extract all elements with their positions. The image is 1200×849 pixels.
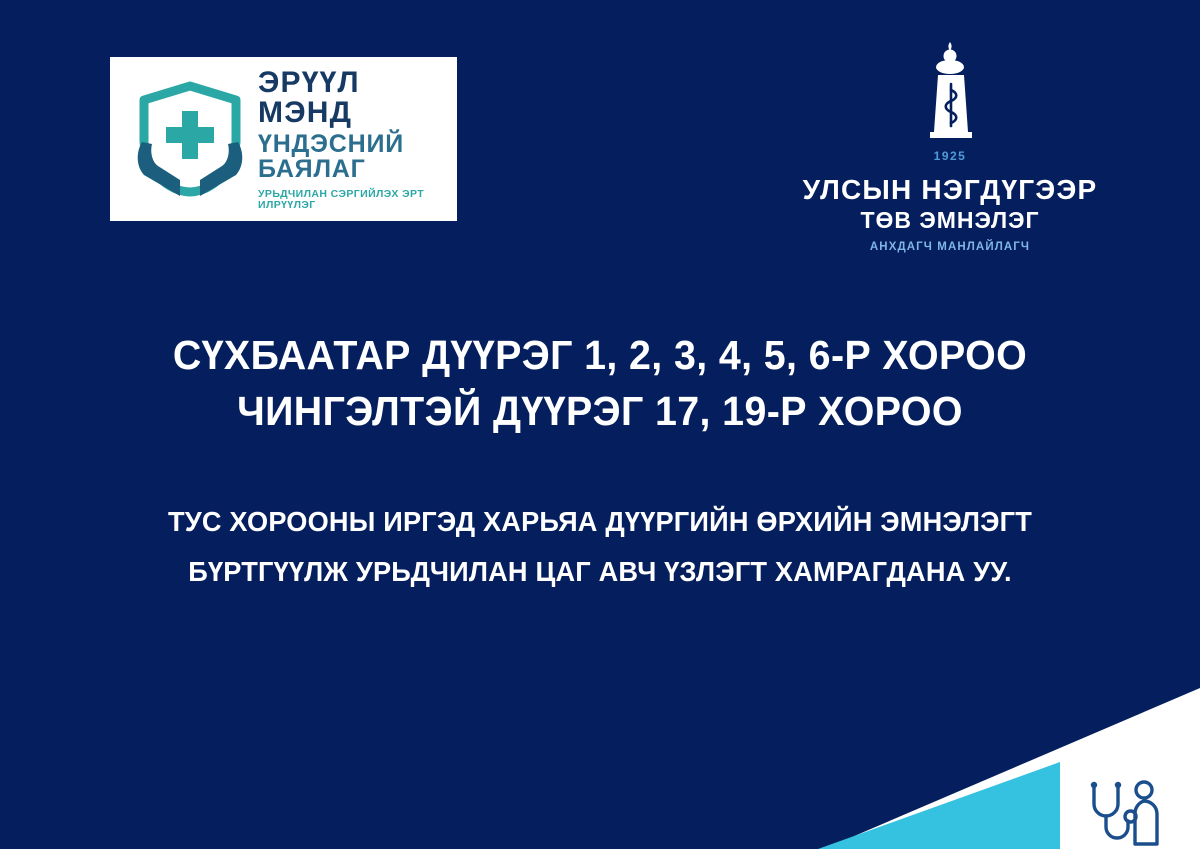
announcement-block: ТУС ХОРООНЫ ИРГЭД ХАРЬЯА ДҮҮРГИЙН ӨРХИЙН… bbox=[0, 497, 1200, 597]
hospital-subtitle: АНХДАГЧ МАНЛАЙЛАГЧ bbox=[870, 241, 1030, 253]
poster-canvas: ЭРҮҮЛ МЭНД ҮНДЭСНИЙ БАЯЛАГ УРЬДЧИЛАН СЭР… bbox=[0, 0, 1200, 849]
hand-left bbox=[138, 142, 180, 196]
hospital-name-line2: ТӨВ ЭМНЭЛЭГ bbox=[860, 208, 1039, 234]
shield-cross-hands-logo-icon bbox=[132, 80, 248, 198]
health-logo-wordmark: ЭРҮҮЛ МЭНД ҮНДЭСНИЙ БАЯЛАГ УРЬДЧИЛАН СЭР… bbox=[258, 68, 447, 210]
hand-right bbox=[200, 142, 242, 196]
pillar-asclepius-emblem-icon bbox=[914, 40, 986, 148]
emblem-base bbox=[930, 132, 972, 138]
headline-block: СҮХБААТАР ДҮҮРЭГ 1, 2, 3, 4, 5, 6-Р ХОРО… bbox=[0, 327, 1200, 439]
cyan-band-taper bbox=[1020, 762, 1060, 800]
hospital-name-line1: УЛСЫН НЭГДҮГЭЭР bbox=[803, 174, 1098, 205]
medical-cross bbox=[166, 111, 214, 159]
hospital-founding-year: 1925 bbox=[934, 149, 967, 163]
health-logo-tagline: УРЬДЧИЛАН СЭРГИЙЛЭХ ЭРТ ИЛРҮҮЛЭГ bbox=[258, 189, 447, 210]
health-ministry-logo-card: ЭРҮҮЛ МЭНД ҮНДЭСНИЙ БАЯЛАГ УРЬДЧИЛАН СЭР… bbox=[110, 57, 457, 221]
hospital-logo: 1925 УЛСЫН НЭГДҮГЭЭР ТӨВ ЭМНЭЛЭГ АНХДАГЧ… bbox=[770, 40, 1130, 253]
health-logo-line1: ЭРҮҮЛ МЭНД bbox=[258, 68, 447, 128]
cyan-band bbox=[818, 762, 1060, 849]
stethoscope-doctor-icon bbox=[1085, 780, 1167, 846]
health-logo-line2: ҮНДЭСНИЙ БАЯЛАГ bbox=[258, 132, 447, 182]
announcement-line1: ТУС ХОРООНЫ ИРГЭД ХАРЬЯА ДҮҮРГИЙН ӨРХИЙН… bbox=[18, 497, 1182, 547]
headline-line1: СҮХБААТАР ДҮҮРЭГ 1, 2, 3, 4, 5, 6-Р ХОРО… bbox=[24, 327, 1176, 383]
headline-line2: ЧИНГЭЛТЭЙ ДҮҮРЭГ 17, 19-Р ХОРОО bbox=[24, 383, 1176, 439]
announcement-line2: БҮРТГҮҮЛЖ УРЬДЧИЛАН ЦАГ АВЧ ҮЗЛЭГТ ХАМРА… bbox=[18, 547, 1182, 597]
emblem-moon bbox=[936, 60, 964, 74]
